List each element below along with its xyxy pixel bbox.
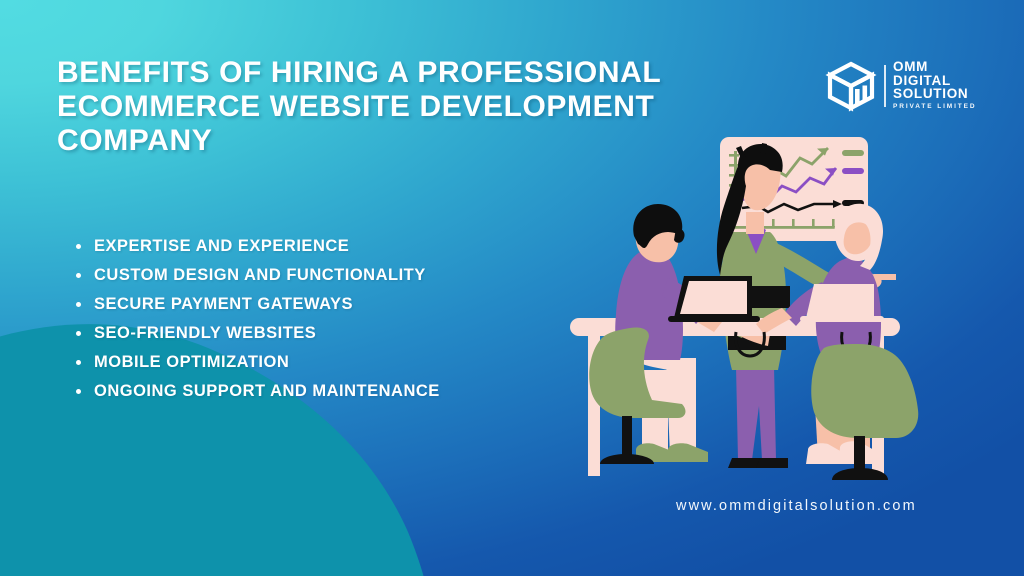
logo-wordmark: OMM DIGITAL SOLUTION PRIVATE LIMITED — [893, 60, 977, 112]
website-url[interactable]: www.ommdigitalsolution.com — [676, 498, 917, 514]
isometric-cube-logo-icon — [825, 60, 877, 112]
team-meeting-illustration — [556, 120, 1024, 480]
laptop-left — [668, 276, 760, 322]
list-item: SECURE PAYMENT GATEWAYS — [76, 290, 440, 319]
legend-swatch-purple — [842, 168, 864, 174]
logo-divider — [884, 65, 886, 107]
list-item: ONGOING SUPPORT AND MAINTENANCE — [76, 377, 440, 406]
list-item: CUSTOM DESIGN AND FUNCTIONALITY — [76, 261, 440, 290]
list-item: MOBILE OPTIMIZATION — [76, 348, 440, 377]
legend-swatch-green — [842, 150, 864, 156]
company-logo[interactable]: OMM DIGITAL SOLUTION PRIVATE LIMITED — [825, 60, 977, 112]
list-item: SEO-FRIENDLY WEBSITES — [76, 319, 440, 348]
marketing-banner: BENEFITS OF HIRING A PROFESSIONAL ECOMME… — [0, 0, 1024, 576]
list-item: EXPERTISE AND EXPERIENCE — [76, 232, 440, 261]
logo-tagline: PRIVATE LIMITED — [893, 101, 977, 112]
logo-line-3: SOLUTION — [893, 87, 977, 101]
title-line: ECOMMERCE WEBSITE DEVELOPMENT — [57, 90, 677, 124]
title-line: BENEFITS OF HIRING A PROFESSIONAL — [57, 56, 677, 90]
logo-line-2: DIGITAL — [893, 74, 977, 88]
logo-line-1: OMM — [893, 60, 977, 74]
benefits-list: EXPERTISE AND EXPERIENCE CUSTOM DESIGN A… — [76, 232, 440, 406]
